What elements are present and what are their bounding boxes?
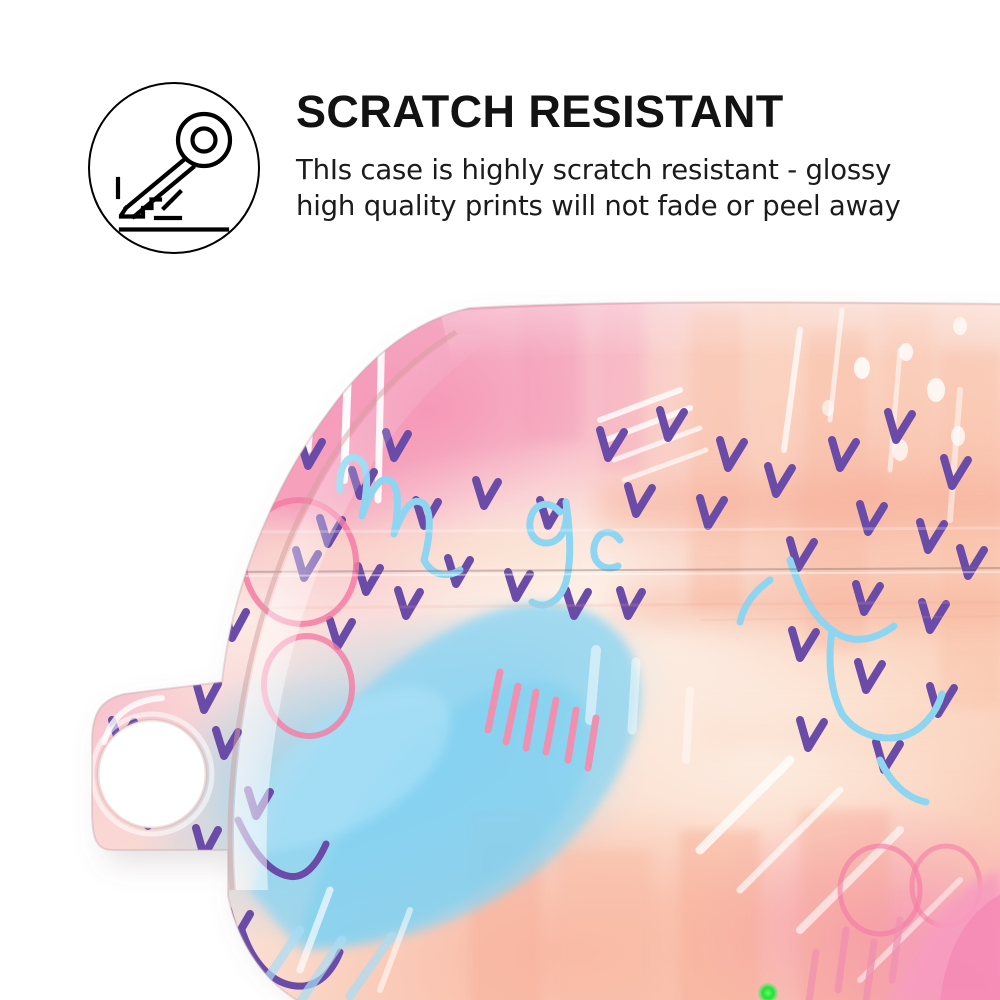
product-photo: [0, 290, 1000, 1000]
case-body: [80, 290, 1000, 1000]
airpods-case-illustration: [0, 290, 1000, 1000]
feature-description: ThIs case is highly scratch resistant - …: [296, 152, 936, 225]
key-scratch-icon: [88, 82, 260, 254]
feature-banner: SCRATCH RESISTANT ThIs case is highly sc…: [0, 0, 1000, 300]
feature-text-block: SCRATCH RESISTANT ThIs case is highly sc…: [296, 88, 936, 225]
carabiner-loop: [92, 682, 228, 850]
feature-description-line-2: high quality prints will not fade or pee…: [296, 188, 936, 225]
feature-title: SCRATCH RESISTANT: [296, 88, 936, 136]
feature-description-line-1: ThIs case is highly scratch resistant - …: [296, 152, 936, 189]
product-feature-slide: SCRATCH RESISTANT ThIs case is highly sc…: [0, 0, 1000, 1000]
feature-badge: [88, 82, 260, 254]
